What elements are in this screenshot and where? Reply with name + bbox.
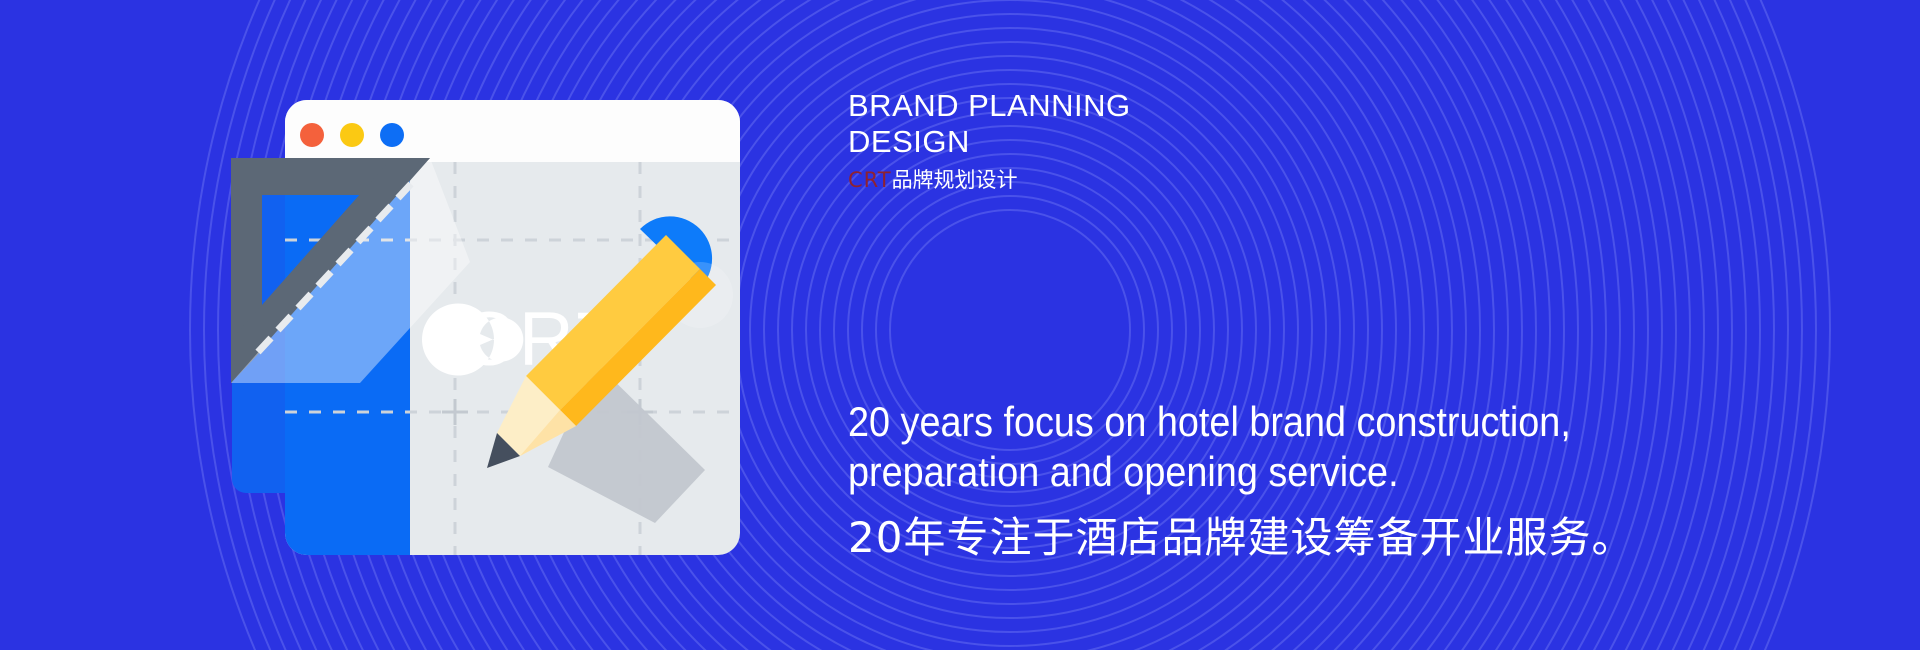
headline-en-line-2: preparation and opening service. <box>848 448 1748 496</box>
brand-design-illustration: CRT <box>0 0 900 650</box>
minimize-dot <box>340 123 364 147</box>
headline-cn: 20年专注于酒店品牌建设筹备开业服务。 <box>848 512 1848 564</box>
headline-en-line-1: 20 years focus on hotel brand constructi… <box>848 398 1748 446</box>
headline-block: 20 years focus on hotel brand constructi… <box>848 398 1848 564</box>
eyebrow-line-1: BRAND PLANNING <box>848 88 1488 124</box>
maximize-dot <box>380 123 404 147</box>
eyebrow-block: BRAND PLANNING DESIGN CRT品牌规划设计 <box>848 88 1488 193</box>
close-dot <box>300 123 324 147</box>
copy-column: BRAND PLANNING DESIGN CRT品牌规划设计 20 years… <box>848 0 1908 650</box>
eyebrow-subtitle: CRT品牌规划设计 <box>848 167 1488 193</box>
eyebrow-line-2: DESIGN <box>848 124 1488 160</box>
eyebrow-subtitle-cn: 品牌规划设计 <box>892 168 1018 192</box>
hero-banner: CRT <box>0 0 1920 650</box>
eyebrow-brand-mark: CRT <box>848 168 892 192</box>
